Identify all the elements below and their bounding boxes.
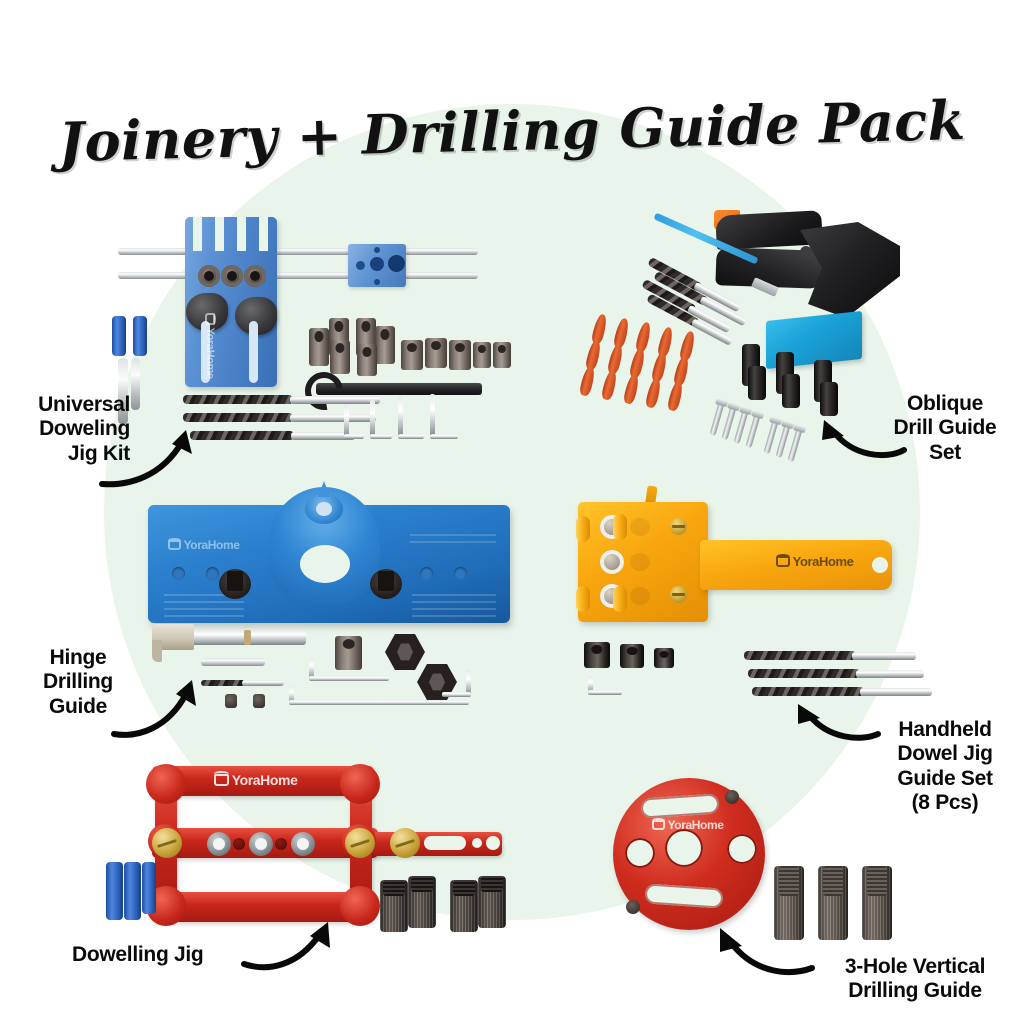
jig-pivot xyxy=(146,764,186,804)
product-collage-image: Joinery + Drilling Guide Pack YoraHome xyxy=(0,0,1024,1024)
set-screw xyxy=(225,694,237,708)
drill-guide-hole xyxy=(198,265,220,287)
arrow-three-hole-vertical-drilling-guide xyxy=(706,918,816,978)
drill-bushing xyxy=(473,342,491,368)
hinge-clamp-cap xyxy=(219,569,251,599)
drill-stop-collar xyxy=(654,648,674,668)
jig-pivot xyxy=(340,764,380,804)
drill-bit-shank xyxy=(290,414,376,422)
drill-bushing xyxy=(401,340,423,370)
dowel-pin xyxy=(106,862,123,920)
small-drill-bit-shank xyxy=(242,680,284,686)
locating-hole xyxy=(420,567,433,580)
brand-label: YoraHome xyxy=(204,328,216,379)
brand-logo-jig1: YoraHome xyxy=(204,313,216,379)
brand-logo-dowelling: YoraHome xyxy=(214,772,297,788)
house-icon xyxy=(214,774,229,786)
base-side-hole xyxy=(727,834,757,864)
drill-bushing xyxy=(375,326,395,364)
drill-guide-hole xyxy=(221,265,243,287)
drill-bushing xyxy=(291,832,315,856)
hinge-cup-opening xyxy=(300,545,350,583)
guide-rod-bottom xyxy=(118,272,478,279)
clamp-pivot xyxy=(800,246,812,258)
jig-screw xyxy=(670,518,687,535)
drill-bushing xyxy=(249,832,273,856)
drill-stop-collar xyxy=(380,880,408,932)
jig-slot xyxy=(215,217,224,251)
dowel-pin xyxy=(124,862,141,920)
base-fixing-hole xyxy=(725,790,739,804)
drill-bushing xyxy=(357,344,377,376)
sliding-guide-block xyxy=(348,244,406,287)
molded-text-top xyxy=(410,529,496,543)
dowel-jig-body xyxy=(578,502,708,622)
base-side-hole xyxy=(625,838,655,868)
index-mark xyxy=(233,838,245,850)
index-mark xyxy=(275,838,287,850)
brand-logo-vdg: YoraHome xyxy=(652,818,724,832)
drill-stop-collar xyxy=(478,876,506,928)
set-screw xyxy=(253,694,265,708)
arrow-path xyxy=(834,432,904,455)
drill-bit xyxy=(748,669,860,678)
drill-guide-hole xyxy=(244,265,266,287)
depth-collar xyxy=(335,636,362,670)
drill-bushing xyxy=(782,374,800,408)
adjustment-slot xyxy=(249,321,258,383)
brand-label: YoraHome xyxy=(232,772,298,788)
brand-label: YoraHome xyxy=(793,554,854,569)
arrow-handheld-dowel-jig-guide-set xyxy=(782,692,882,748)
extension-slot xyxy=(424,836,466,850)
alignment-peg xyxy=(576,516,590,542)
arrow-oblique-drill-guide-set xyxy=(800,402,910,462)
jig-screw xyxy=(670,586,687,603)
alignment-peg xyxy=(613,586,627,612)
arrow-universal-doweling-jig-kit xyxy=(100,420,220,490)
house-icon xyxy=(776,556,790,567)
extension-hole xyxy=(486,836,500,850)
dowel-pin xyxy=(112,316,126,356)
alignment-peg xyxy=(613,514,627,540)
thumb-screw xyxy=(390,828,420,858)
dowel-pin xyxy=(142,862,156,914)
drill-bushing xyxy=(207,832,231,856)
thumb-screw xyxy=(152,828,182,858)
guide-rod-top xyxy=(118,248,478,255)
drill-bit xyxy=(183,395,293,404)
house-icon xyxy=(168,540,181,550)
arrow-hinge-drilling-guide xyxy=(110,660,220,740)
drill-bushing xyxy=(600,550,624,574)
drill-stop-collar xyxy=(620,644,644,668)
callout-three-hole-vertical-drilling-guide: 3-Hole Vertical Drilling Guide xyxy=(806,955,1024,1004)
extension-hole xyxy=(504,834,521,851)
drill-bit xyxy=(744,651,856,660)
drill-guide-bushing xyxy=(818,866,848,940)
thumb-screw xyxy=(345,828,375,858)
handle-hang-hole xyxy=(872,557,888,573)
house-icon xyxy=(205,313,214,325)
page-title: Joinery + Drilling Guide Pack xyxy=(0,91,1024,170)
brand-label: YoraHome xyxy=(184,538,240,552)
arrow-path xyxy=(102,442,182,484)
hinge-bit-bore xyxy=(305,494,343,524)
arrow-dowelling-jig xyxy=(240,916,350,972)
drill-stop-collar xyxy=(450,880,478,932)
locating-hole xyxy=(206,567,219,580)
brand-logo-hinge: YoraHome xyxy=(168,538,240,552)
drill-bushing xyxy=(493,342,511,368)
arrow-path xyxy=(244,934,320,967)
drill-guide-bushing xyxy=(862,866,892,940)
hinge-clamp-cap xyxy=(370,569,402,599)
base-fixing-hole xyxy=(626,900,640,914)
drill-bit-shank xyxy=(856,670,924,678)
jig-slot xyxy=(259,217,268,251)
locating-hole xyxy=(454,567,467,580)
brand-label: YoraHome xyxy=(668,818,724,832)
drill-stop-collar xyxy=(408,876,436,928)
depth-ring xyxy=(244,630,251,645)
drill-bit-shank xyxy=(852,652,916,660)
molded-text-right xyxy=(412,589,496,617)
arrow-path xyxy=(732,944,812,972)
stop-collar-rod xyxy=(131,358,140,410)
arrow-path xyxy=(114,694,186,735)
brand-logo-ydj: YoraHome xyxy=(776,554,854,569)
dowel-jig-handle: YoraHome xyxy=(700,540,892,590)
drill-bushing xyxy=(748,366,766,400)
drill-bushing xyxy=(309,328,329,366)
house-icon xyxy=(652,820,665,830)
arrow-path xyxy=(810,716,878,738)
dowel-pin xyxy=(133,316,147,356)
drill-bit-shank xyxy=(290,396,380,404)
drill-bushing xyxy=(425,338,447,368)
forstner-bit-spur xyxy=(152,640,162,662)
base-center-bore xyxy=(665,829,703,867)
drill-bushing xyxy=(330,340,350,374)
doweling-jig-body: YoraHome xyxy=(185,217,277,387)
alignment-peg xyxy=(576,586,590,612)
jig-slot xyxy=(193,217,202,251)
callout-handheld-dowel-jig-guide-set: Handheld Dowel Jig Guide Set (8 Pcs) xyxy=(866,718,1024,815)
drill-stop-collar xyxy=(584,642,610,668)
extension-hole xyxy=(472,838,482,848)
jig-slot xyxy=(237,217,246,251)
drill-bushing xyxy=(449,340,471,370)
locating-hole xyxy=(172,567,185,580)
